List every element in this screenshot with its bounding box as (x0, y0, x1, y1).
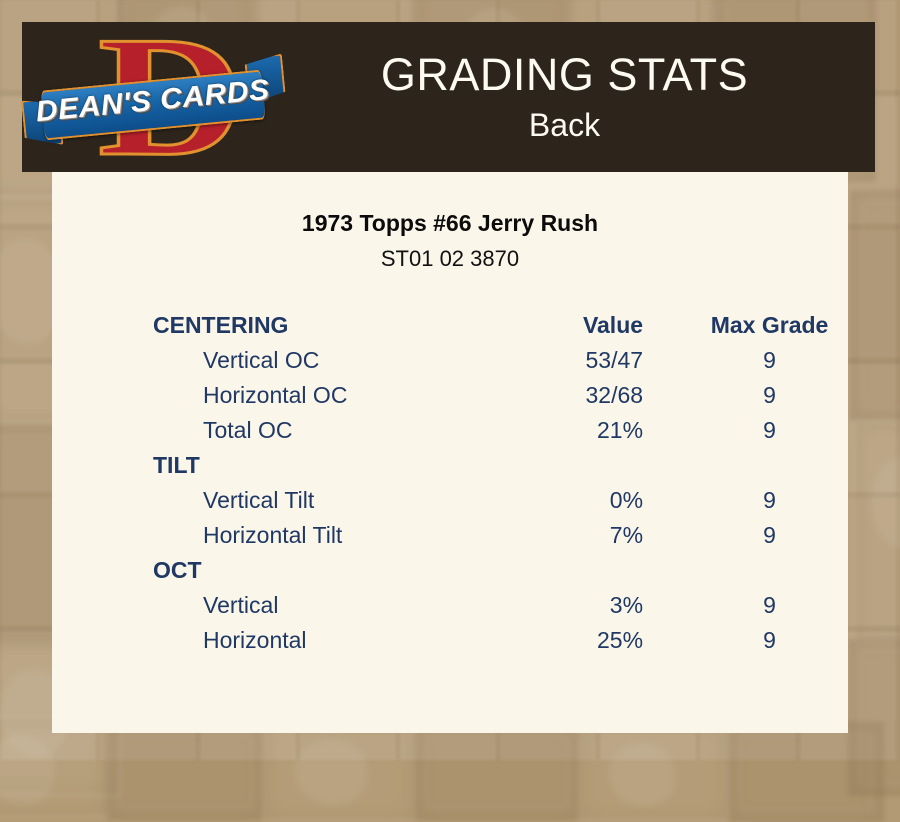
row-max-grade: 9 (691, 588, 848, 623)
section-label: OCT (52, 553, 512, 588)
row-label: Horizontal Tilt (52, 518, 512, 553)
header-bar: D DEAN'S CARDS GRADING STATS Back (22, 22, 875, 172)
table-row: Vertical 3% 9 (52, 588, 848, 623)
card-serial-number: ST01 02 3870 (52, 246, 848, 272)
row-value: 21% (512, 413, 691, 448)
row-max-grade: 9 (691, 343, 848, 378)
row-label: Vertical OC (52, 343, 512, 378)
content-panel: 1973 Topps #66 Jerry Rush ST01 02 3870 C… (52, 172, 848, 733)
table-row: Vertical Tilt 0% 9 (52, 483, 848, 518)
row-max-grade: 9 (691, 413, 848, 448)
table-row: Horizontal OC 32/68 9 (52, 378, 848, 413)
row-label: Horizontal OC (52, 378, 512, 413)
background-card (852, 420, 900, 642)
table-row: Horizontal 25% 9 (52, 623, 848, 658)
background-card (578, 720, 730, 822)
background-card (414, 724, 580, 820)
section-header-tilt: TILT (52, 448, 848, 483)
row-value: 25% (512, 623, 691, 658)
column-header-centering: CENTERING (52, 308, 512, 343)
grading-stats-table: CENTERING Value Max Grade Vertical OC 53… (52, 308, 848, 658)
row-label: Total OC (52, 413, 512, 448)
background-card (106, 722, 264, 820)
column-header-max-grade: Max Grade (691, 308, 848, 343)
page-title: GRADING STATS (284, 48, 845, 102)
row-max-grade: 9 (691, 483, 848, 518)
row-label: Vertical (52, 588, 512, 623)
row-value: 7% (512, 518, 691, 553)
row-max-grade: 9 (691, 378, 848, 413)
section-header-oct: OCT (52, 553, 848, 588)
deans-cards-logo[interactable]: D DEAN'S CARDS (22, 22, 284, 172)
row-value: 53/47 (512, 343, 691, 378)
table-row: Horizontal Tilt 7% 9 (52, 518, 848, 553)
column-header-value: Value (512, 308, 691, 343)
background-card (728, 722, 884, 822)
background-card (262, 718, 416, 822)
row-label: Vertical Tilt (52, 483, 512, 518)
row-value: 3% (512, 588, 691, 623)
row-value: 32/68 (512, 378, 691, 413)
header-titles: GRADING STATS Back (284, 48, 875, 146)
table-row: Vertical OC 53/47 9 (52, 343, 848, 378)
background-card (850, 190, 900, 420)
table-header-row: CENTERING Value Max Grade (52, 308, 848, 343)
section-label: TILT (52, 448, 512, 483)
row-max-grade: 9 (691, 518, 848, 553)
table-row: Total OC 21% 9 (52, 413, 848, 448)
page-subtitle: Back (284, 104, 845, 146)
row-label: Horizontal (52, 623, 512, 658)
row-value: 0% (512, 483, 691, 518)
card-title: 1973 Topps #66 Jerry Rush (52, 210, 848, 237)
row-max-grade: 9 (691, 623, 848, 658)
